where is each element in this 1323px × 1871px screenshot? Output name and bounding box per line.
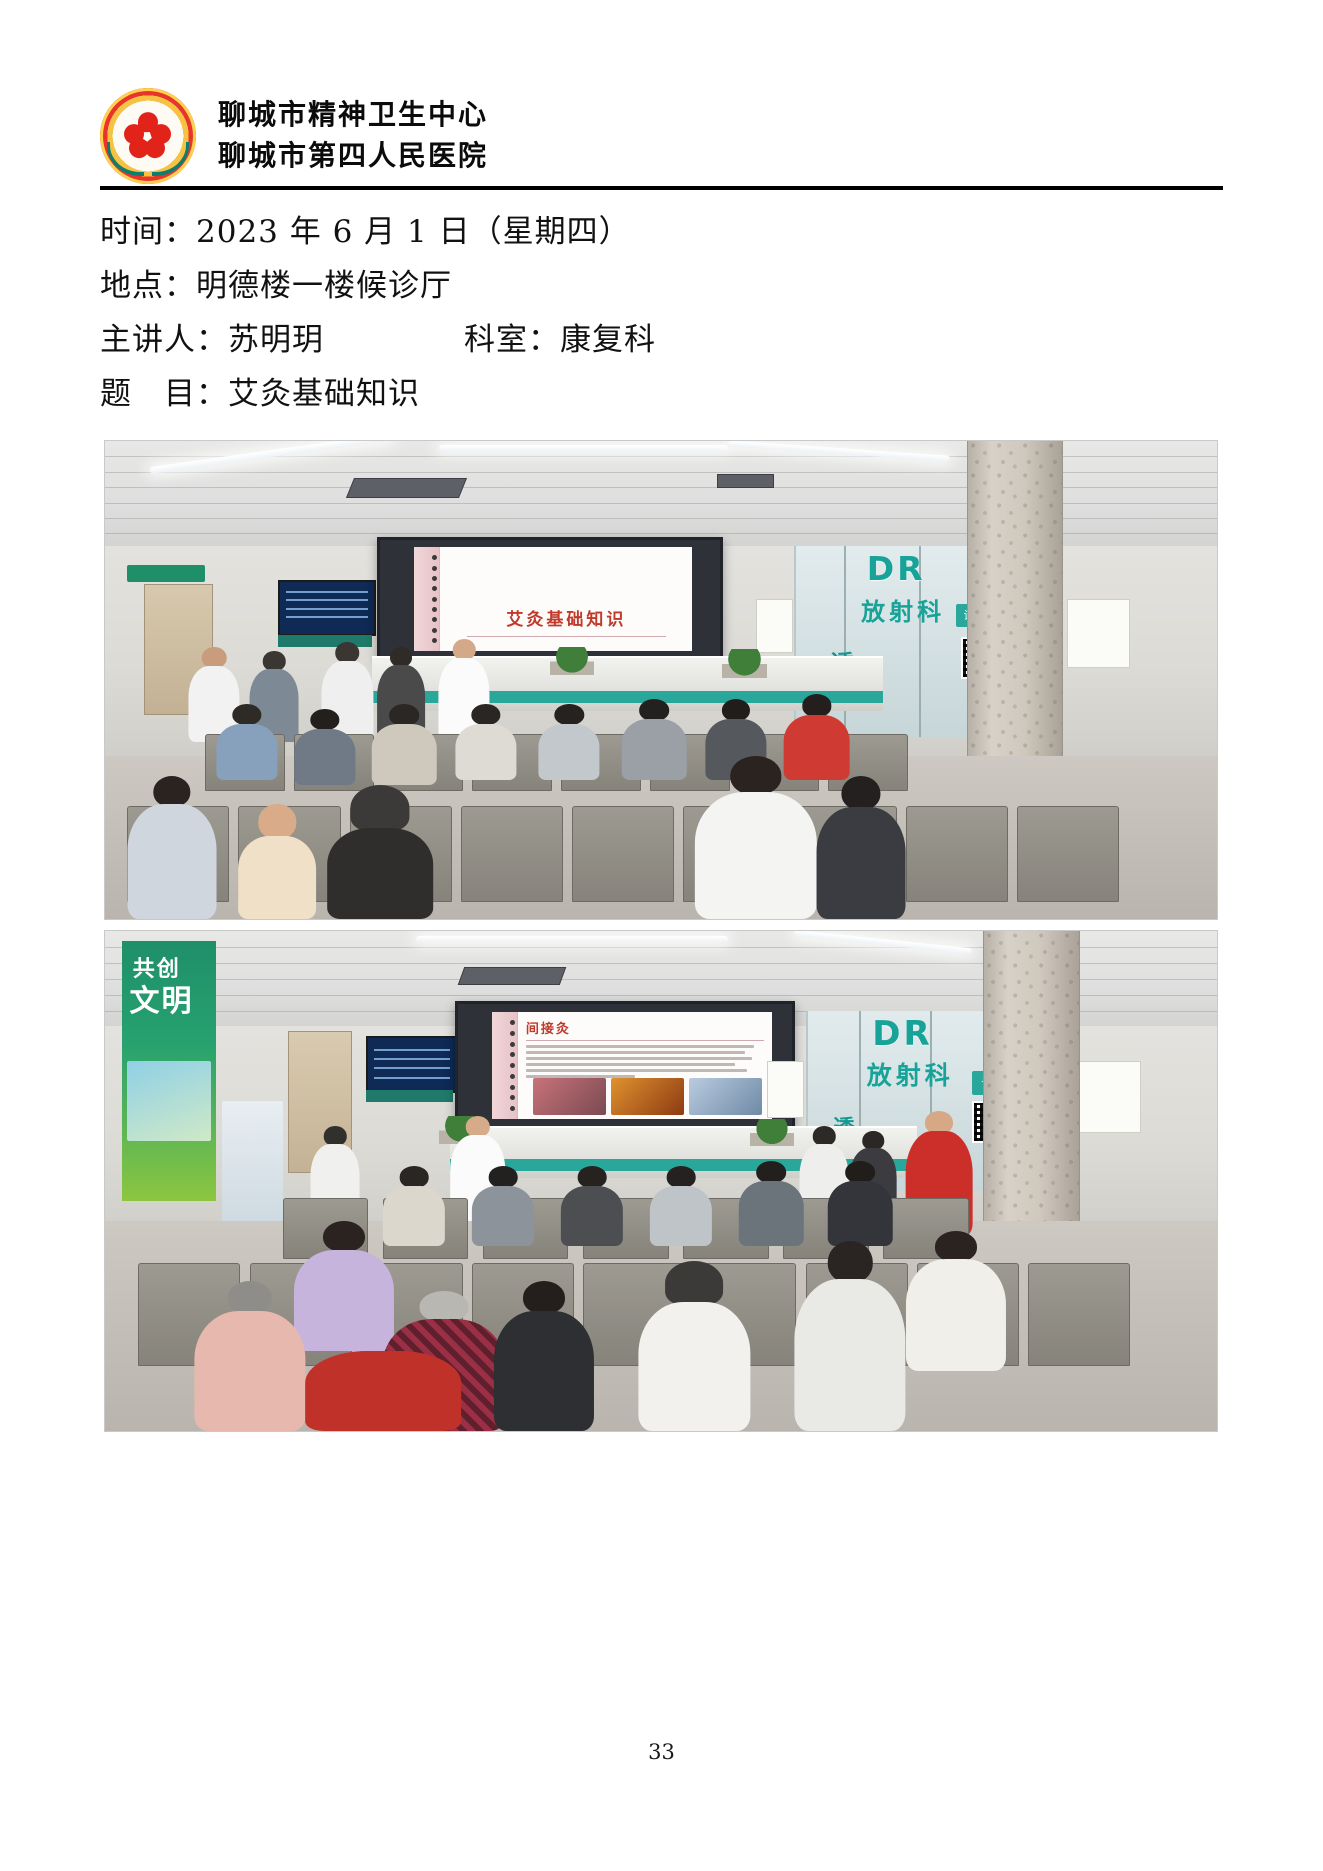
organization-names: 聊城市精神卫生中心 聊城市第四人民医院 — [218, 97, 488, 175]
person-seated — [455, 704, 516, 780]
potted-plant-left — [550, 647, 594, 676]
info-row-time: 时间：2023 年 6 月 1 日（星期四） — [100, 205, 1223, 259]
radiology-department-label: 放射科 — [861, 592, 945, 627]
department-value: 康复科 — [560, 325, 656, 356]
potted-plant-right — [722, 649, 766, 678]
person-seated — [561, 1166, 623, 1246]
hospital-logo-icon — [100, 88, 196, 184]
person-foreground-white-shirt — [694, 756, 816, 919]
slide-body-text — [526, 1045, 764, 1078]
topic-value: 艾灸基础知识 — [228, 379, 420, 410]
person-foreground-cap — [639, 1261, 750, 1431]
slide-image-3 — [689, 1078, 762, 1115]
info-row-place: 地点：明德楼一楼候诊厅 — [100, 259, 1223, 313]
person-foreground-pink — [194, 1281, 305, 1431]
radiology-department-label: 放射科 — [867, 1056, 954, 1092]
department-label: 科室： — [464, 325, 560, 356]
place-value: 明德楼一楼候诊厅 — [196, 271, 452, 302]
org-name-primary: 聊城市精神卫生中心 — [218, 97, 488, 134]
person-seated — [472, 1166, 534, 1246]
information-display-monitor — [278, 580, 375, 637]
wall-notice-right — [1078, 1061, 1141, 1133]
slide-spiral-binding — [414, 547, 440, 651]
info-row-topic: 题 目：艾灸基础知识 — [100, 367, 1223, 421]
page-number: 33 — [0, 1740, 1323, 1764]
person-seated — [294, 709, 355, 785]
person-foreground-dark — [494, 1281, 594, 1431]
ceiling-light-center — [416, 936, 727, 942]
person-foreground-purple — [294, 1221, 394, 1351]
projector-screen: 艾灸基础知识 苏明玥 2023.6.1 — [377, 537, 722, 665]
person-seated — [739, 1161, 803, 1246]
dr-signage-text: DR — [867, 549, 926, 588]
lecture-photo-wide-audience: 艾灸基础知识 苏明玥 2023.6.1 DR 放射科 透视 诊区 — [104, 440, 1218, 920]
header-divider-rule — [100, 186, 1223, 190]
letterhead: 聊城市精神卫生中心 聊城市第四人民医院 — [100, 88, 1223, 184]
speaker-label: 主讲人： — [100, 325, 228, 356]
ceiling-vent-right — [717, 474, 775, 488]
service-center-sign — [366, 1090, 453, 1102]
person-foreground-woman — [127, 776, 216, 919]
info-row-speaker-department: 主讲人：苏明玥 科室：康复科 — [100, 313, 1223, 367]
wall-notice-left — [767, 1061, 805, 1118]
logo-wheat-left — [107, 142, 144, 176]
slide-title: 间接灸 — [526, 1018, 764, 1037]
org-name-secondary: 聊城市第四人民医院 — [218, 138, 488, 175]
slide-image-2 — [611, 1078, 684, 1115]
wall-notice-left — [756, 599, 794, 654]
person-foreground-white — [794, 1241, 905, 1431]
person-foreground-child — [238, 804, 316, 919]
lecture-photo-slide-detail: 共创 文明 — [104, 930, 1218, 1432]
presentation-slide: 间接灸 — [492, 1012, 772, 1120]
speaker-value: 苏明玥 — [228, 325, 324, 356]
ceiling-light-right — [795, 930, 973, 954]
ceiling-light-center — [439, 445, 728, 451]
person-foreground-cap — [327, 785, 433, 919]
person-foreground-phone-user — [906, 1231, 1006, 1371]
lecture-info-block: 时间：2023 年 6 月 1 日（星期四） 地点：明德楼一楼候诊厅 主讲人：苏… — [100, 205, 1223, 421]
information-display-monitor — [366, 1036, 457, 1093]
exit-sign — [127, 565, 205, 581]
dr-signage-text: DR — [872, 1014, 932, 1054]
banner-headline-line-2: 文明 — [129, 976, 193, 1020]
time-value: 2023 年 6 月 1 日（星期四） — [196, 217, 631, 248]
potted-plant-right — [750, 1119, 794, 1147]
slide-illustrations — [533, 1078, 762, 1115]
document-page: 聊城市精神卫生中心 聊城市第四人民医院 时间：2023 年 6 月 1 日（星期… — [0, 0, 1323, 1871]
person-seated — [539, 704, 600, 780]
person-seated — [216, 704, 277, 780]
slide-spiral-binding — [492, 1012, 518, 1120]
person-foreground-dark-shirt — [817, 776, 906, 919]
projector-screen: 间接灸 — [455, 1001, 795, 1132]
topic-label: 题 目： — [100, 379, 228, 410]
presentation-slide: 艾灸基础知识 苏明玥 2023.6.1 — [414, 547, 692, 651]
person-seated — [372, 704, 436, 785]
person-seated — [622, 699, 686, 780]
person-seated — [828, 1161, 892, 1246]
slide-image-1 — [533, 1078, 606, 1115]
place-label: 地点： — [100, 271, 196, 302]
banner-illustration — [127, 1061, 210, 1141]
time-label: 时间： — [100, 217, 196, 248]
ceiling-vent-left — [346, 478, 467, 498]
wall-notice-right — [1067, 599, 1130, 668]
ceiling-vent — [458, 967, 567, 985]
person-foreground-red-jacket — [305, 1351, 461, 1431]
logo-wheat-right — [152, 142, 189, 176]
slide-title: 艾灸基础知识 — [448, 605, 684, 630]
person-seated — [650, 1166, 712, 1246]
ceiling-light-right — [728, 440, 950, 461]
